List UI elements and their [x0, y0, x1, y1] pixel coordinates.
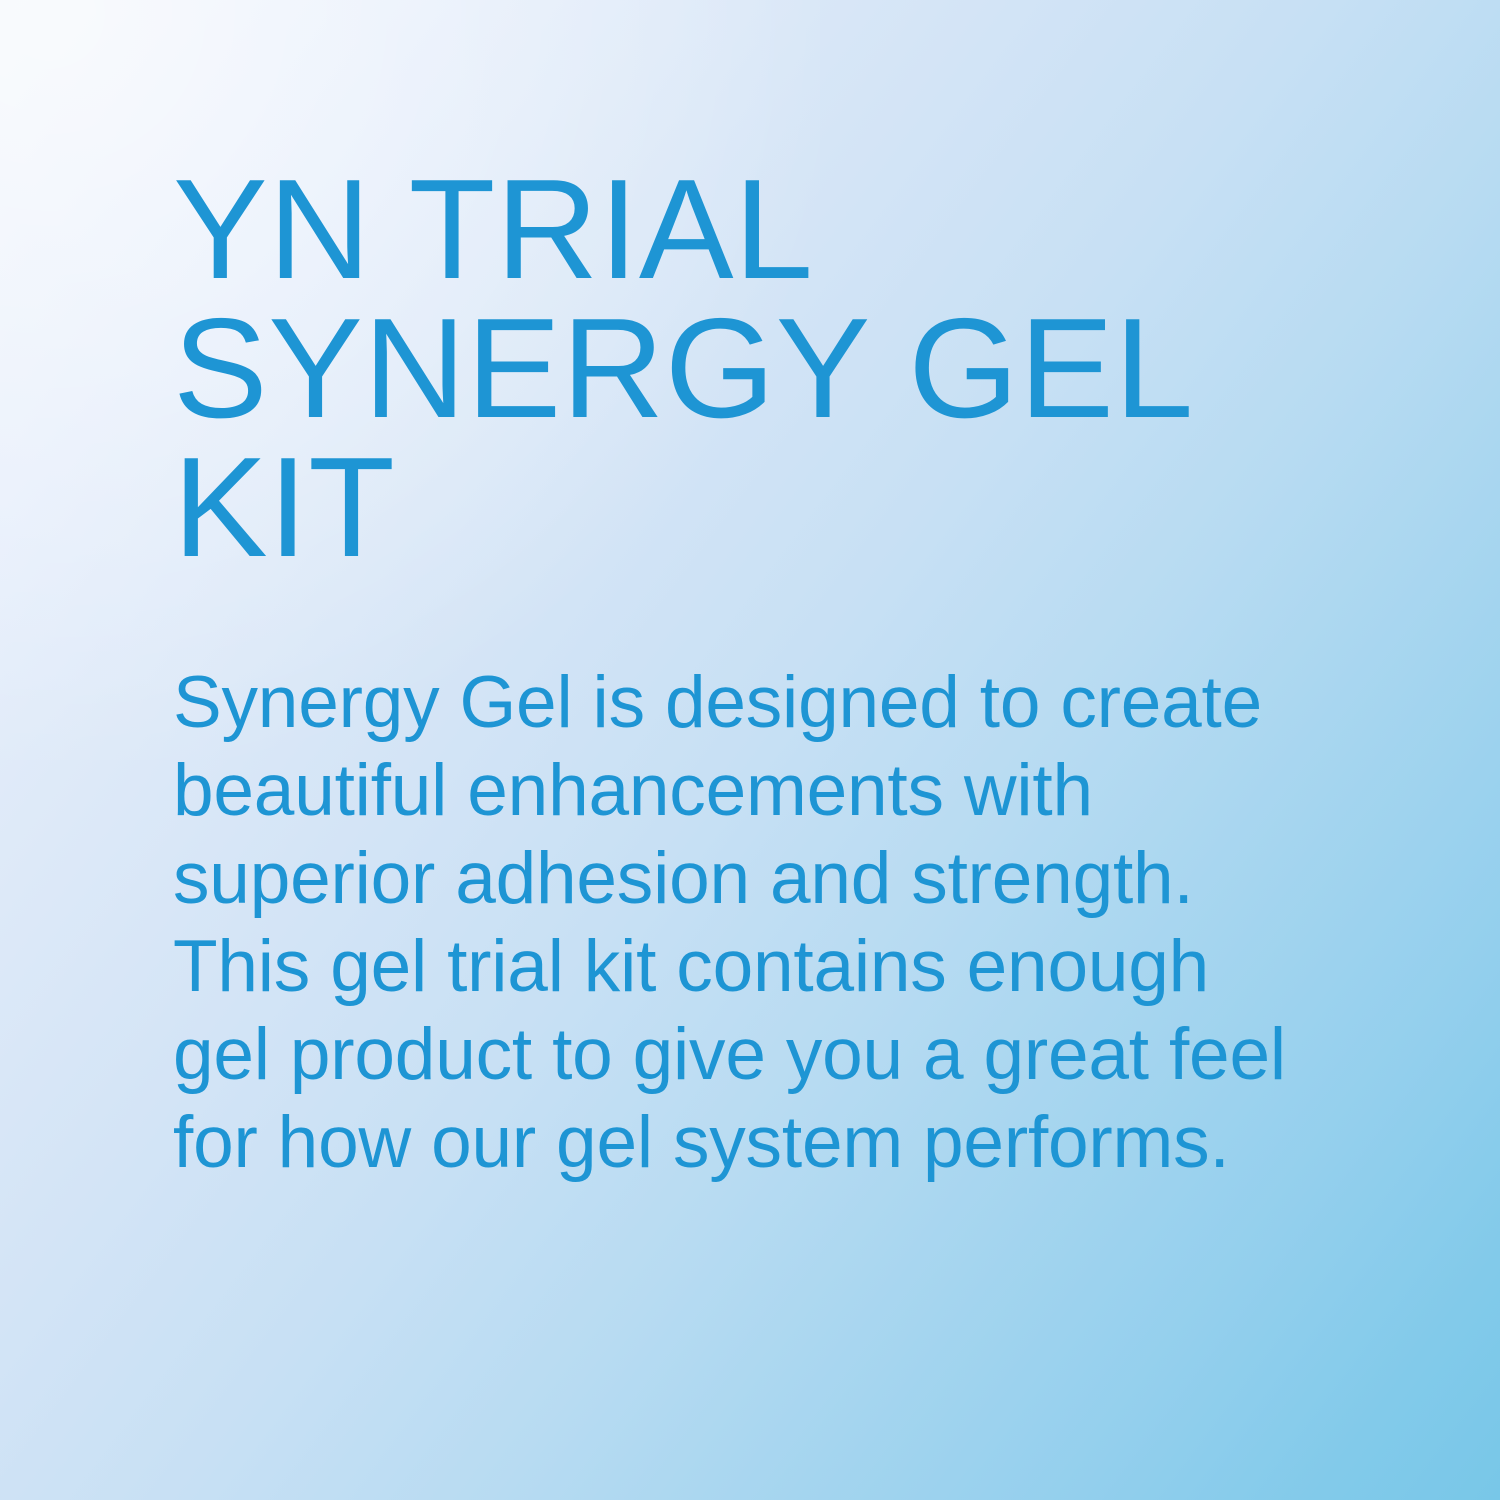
page-title: YN TRIAL SYNERGY GEL KIT: [173, 160, 1433, 577]
text-content-block: YN TRIAL SYNERGY GEL KIT Synergy Gel is …: [173, 160, 1433, 1187]
product-description-card: YN TRIAL SYNERGY GEL KIT Synergy Gel is …: [0, 0, 1500, 1500]
product-description-text: Synergy Gel is designed to create beauti…: [173, 577, 1433, 1187]
